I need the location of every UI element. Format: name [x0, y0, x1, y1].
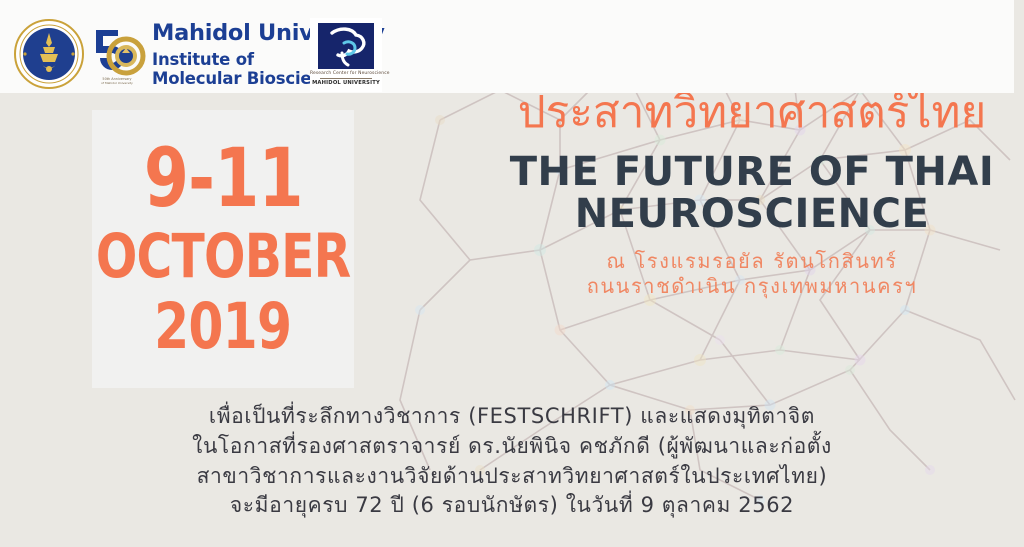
- description-line1: เพื่อเป็นที่ระลึกทางวิชาการ (FESTSCHRIFT…: [0, 402, 1024, 432]
- research-center-caption: Research Center for Neuroscience: [310, 71, 382, 76]
- date-month: OCTOBER: [96, 228, 351, 287]
- date-panel: 9-11 OCTOBER 2019: [92, 110, 354, 388]
- description-line2: ในโอกาสที่รองศาสตราจารย์ ดร.นัยพินิจ คชภ…: [0, 432, 1024, 462]
- description-paragraph: เพื่อเป็นที่ระลึกทางวิชาการ (FESTSCHRIFT…: [0, 402, 1024, 521]
- mahidol-university-seal-icon: [12, 17, 86, 91]
- brain-glyph-icon: [318, 23, 374, 69]
- conference-poster: 50th Anniversary of Mahidol University M…: [0, 0, 1024, 547]
- fiftieth-anniversary-logo-icon: 50th Anniversary of Mahidol University: [88, 20, 146, 88]
- venue-line1: ณ โรงแรมรอยัล รัตนโกสินทร์: [606, 249, 897, 273]
- research-center-neuroscience-logo: Research Center for Neuroscience MAHIDOL…: [310, 18, 382, 92]
- title-english-line1: THE FUTURE OF THAI: [510, 149, 995, 195]
- svg-text:of Mahidol University: of Mahidol University: [101, 81, 133, 85]
- date-year: 2019: [154, 297, 291, 357]
- description-line4: จะมีอายุครบ 72 ปี (6 รอบนักษัตร) ในวันที…: [0, 491, 1024, 521]
- title-thai-line2: ประสาทวิทยาศาสตร์ไทย: [480, 91, 1024, 136]
- venue-block: ณ โรงแรมรอยัล รัตนโกสินทร์ ถนนราชดำเนิน …: [480, 249, 1024, 298]
- venue-line2: ถนนราชดำเนิน กรุงเทพมหานครฯ: [480, 274, 1024, 298]
- date-day-range: 9-11: [144, 141, 303, 219]
- description-line3: สาขาวิชาการและงานวิจัยด้านประสาทวิทยาศาส…: [0, 462, 1024, 492]
- logo-band: 50th Anniversary of Mahidol University M…: [0, 0, 1014, 93]
- logo-divider: [320, 78, 372, 79]
- title-english: THE FUTURE OF THAI NEUROSCIENCE: [480, 152, 1024, 235]
- title-english-line2: NEUROSCIENCE: [480, 194, 1024, 236]
- research-center-university: MAHIDOL UNIVERSITY: [310, 80, 382, 86]
